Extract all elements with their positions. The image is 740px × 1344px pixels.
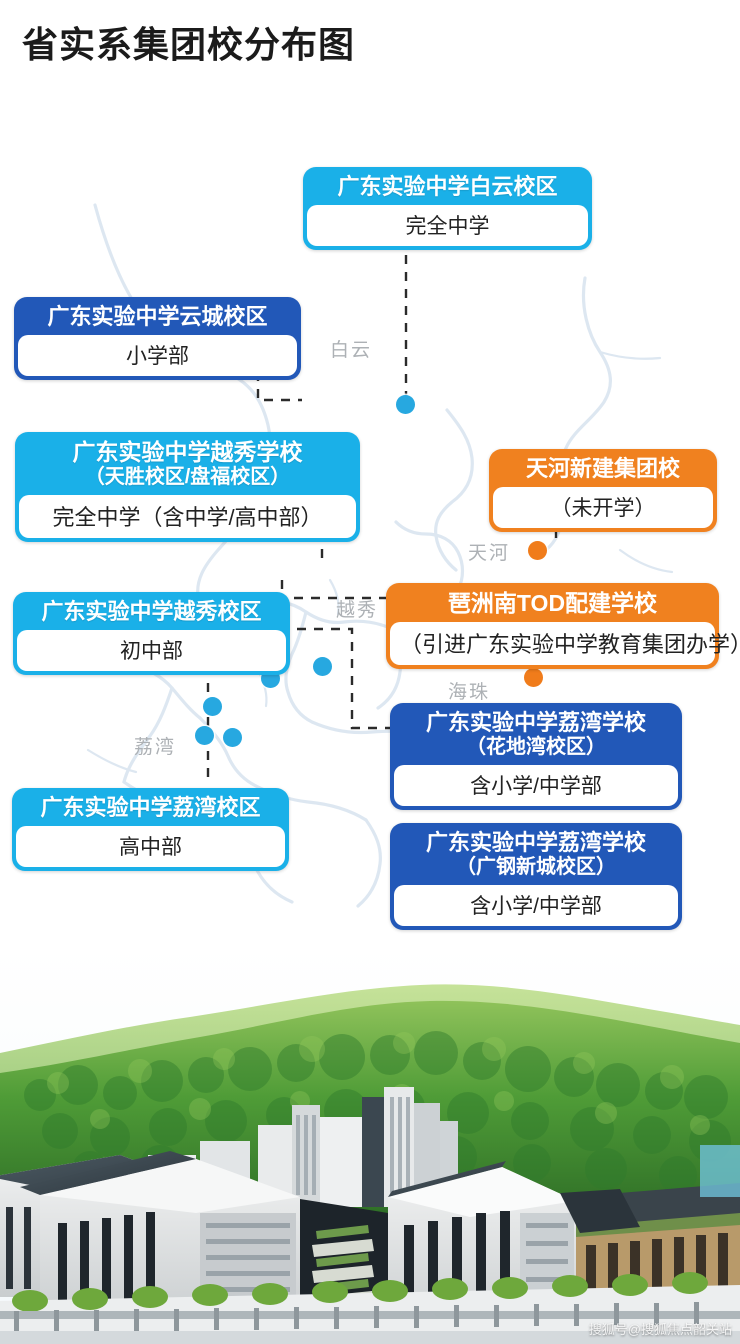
callout-header-main-yuexiu-school: 广东实验中学越秀学校 [73, 439, 303, 465]
district-label-2: 越秀 [336, 595, 378, 622]
callout-pazhou-tod[interactable]: 琶洲南TOD配建学校（引进广东实验中学教育集团办学） [386, 583, 719, 669]
callout-body-liwan-guanggang: 含小学/中学部 [394, 885, 678, 926]
page-title: 省实系集团校分布图 [22, 22, 355, 67]
district-label-4: 荔湾 [134, 732, 176, 759]
callout-header-sub-liwan-huadi: （花地湾校区） [404, 736, 668, 760]
callout-header-main-baiyun: 广东实验中学白云校区 [337, 174, 557, 199]
callout-yuexiu-school[interactable]: 广东实验中学越秀学校（天胜校区/盘福校区）完全中学（含中学/高中部） [15, 432, 360, 542]
callout-body-pazhou-tod: （引进广东实验中学教育集团办学） [390, 622, 715, 665]
callout-header-main-liwan-huadi: 广东实验中学荔湾学校 [426, 710, 646, 735]
callout-header-yuexiu-school: 广东实验中学越秀学校（天胜校区/盘福校区） [19, 436, 356, 495]
callout-baiyun[interactable]: 广东实验中学白云校区完全中学 [303, 167, 592, 250]
callout-liwan-guanggang[interactable]: 广东实验中学荔湾学校（广钢新城校区）含小学/中学部 [390, 823, 682, 930]
callout-body-yuncheng: 小学部 [18, 335, 297, 376]
callout-liwan-gaozhong[interactable]: 广东实验中学荔湾校区高中部 [12, 788, 289, 871]
callout-tianhe-new[interactable]: 天河新建集团校（未开学） [489, 449, 717, 532]
district-label-0: 白云 [330, 335, 372, 362]
map-pin-liwan-gaozhong[interactable] [195, 726, 214, 745]
map-pin-liwan-huadi[interactable] [203, 697, 222, 716]
callout-header-main-tianhe-new: 天河新建集团校 [526, 456, 680, 481]
callout-header-sub-liwan-guanggang: （广钢新城校区） [404, 856, 668, 880]
callout-header-pazhou-tod: 琶洲南TOD配建学校 [390, 587, 715, 622]
watermark-text: 搜狐号@搜狐焦点韶关站 [589, 1319, 732, 1338]
map-pin-yuexiu-campus[interactable] [313, 657, 332, 676]
callout-yuncheng[interactable]: 广东实验中学云城校区小学部 [14, 297, 301, 380]
callout-header-main-yuexiu-campus: 广东实验中学越秀校区 [41, 599, 261, 624]
map-pin-pazhou-tod[interactable] [524, 668, 543, 687]
campus-photo: 搜狐号@搜狐焦点韶关站 [0, 945, 740, 1344]
callout-header-main-pazhou-tod: 琶洲南TOD配建学校 [448, 590, 657, 616]
callout-header-liwan-guanggang: 广东实验中学荔湾学校（广钢新城校区） [394, 827, 678, 885]
district-label-3: 海珠 [448, 677, 490, 704]
callout-body-yuexiu-school: 完全中学（含中学/高中部） [19, 495, 356, 538]
map-pin-tianhe-new[interactable] [528, 541, 547, 560]
callout-body-liwan-huadi: 含小学/中学部 [394, 765, 678, 806]
callout-body-liwan-gaozhong: 高中部 [16, 826, 285, 867]
callout-body-tianhe-new: （未开学） [493, 487, 713, 528]
callout-header-main-liwan-gaozhong: 广东实验中学荔湾校区 [40, 795, 260, 820]
callout-body-baiyun: 完全中学 [307, 205, 588, 246]
callout-yuexiu-campus[interactable]: 广东实验中学越秀校区初中部 [13, 592, 290, 675]
callout-header-baiyun: 广东实验中学白云校区 [307, 171, 588, 205]
campus-aerial-illustration [0, 945, 740, 1344]
callout-header-liwan-huadi: 广东实验中学荔湾学校（花地湾校区） [394, 707, 678, 765]
callout-header-liwan-gaozhong: 广东实验中学荔湾校区 [16, 792, 285, 826]
callout-liwan-huadi[interactable]: 广东实验中学荔湾学校（花地湾校区）含小学/中学部 [390, 703, 682, 810]
callout-header-yuexiu-campus: 广东实验中学越秀校区 [17, 596, 286, 630]
callout-header-tianhe-new: 天河新建集团校 [493, 453, 713, 487]
callout-header-sub-yuexiu-school: （天胜校区/盘福校区） [29, 466, 346, 490]
callout-header-yuncheng: 广东实验中学云城校区 [18, 301, 297, 335]
callout-header-main-yuncheng: 广东实验中学云城校区 [47, 304, 267, 329]
callout-header-main-liwan-guanggang: 广东实验中学荔湾学校 [426, 830, 646, 855]
callout-body-yuexiu-campus: 初中部 [17, 630, 286, 671]
map-pin-liwan-guanggang[interactable] [223, 728, 242, 747]
district-label-1: 天河 [468, 538, 510, 565]
map-pin-baiyun[interactable] [396, 395, 415, 414]
